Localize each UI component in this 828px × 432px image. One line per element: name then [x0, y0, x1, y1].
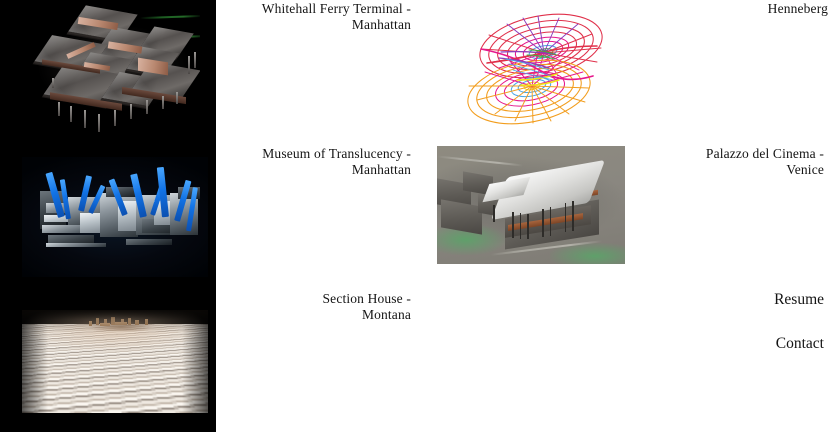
wireframe-svg [437, 2, 629, 138]
stacked-slab-massing-image [22, 4, 200, 137]
project-title: Henneberg [768, 1, 828, 16]
project-title: Section House - [323, 291, 411, 306]
project-location: Manhattan [205, 162, 411, 178]
nav-contact-label: Contact [776, 335, 824, 352]
nav-link-contact[interactable]: Contact [624, 335, 824, 353]
grey-massing-model-render-image[interactable] [437, 146, 625, 264]
contour-terrain-model-image [22, 310, 208, 413]
project-title: Museum of Translucency - [262, 146, 411, 161]
project-link-museum-of-translucency[interactable]: Museum of Translucency - Manhattan [205, 146, 411, 178]
project-title: Palazzo del Cinema - [706, 146, 824, 161]
project-title: Whitehall Ferry Terminal - [262, 1, 411, 16]
project-location: Montana [250, 307, 411, 323]
project-link-section-house[interactable]: Section House - Montana [250, 291, 411, 323]
nav-resume-label: Resume [774, 291, 824, 308]
nav-link-resume[interactable]: Resume [624, 291, 824, 309]
gallery-thumb-contour-terrain-model[interactable] [0, 290, 216, 432]
gallery-column [0, 0, 216, 432]
project-link-whitehall-ferry-terminal[interactable]: Whitehall Ferry Terminal - Manhattan [210, 1, 411, 33]
blue-blade-render-image [22, 157, 208, 277]
gallery-thumb-blue-blade-render[interactable] [0, 145, 216, 290]
double-helicoid-wireframe-image[interactable] [437, 2, 629, 138]
gallery-thumb-stacked-slab-massing[interactable] [0, 0, 216, 145]
project-location: Manhattan [210, 17, 411, 33]
